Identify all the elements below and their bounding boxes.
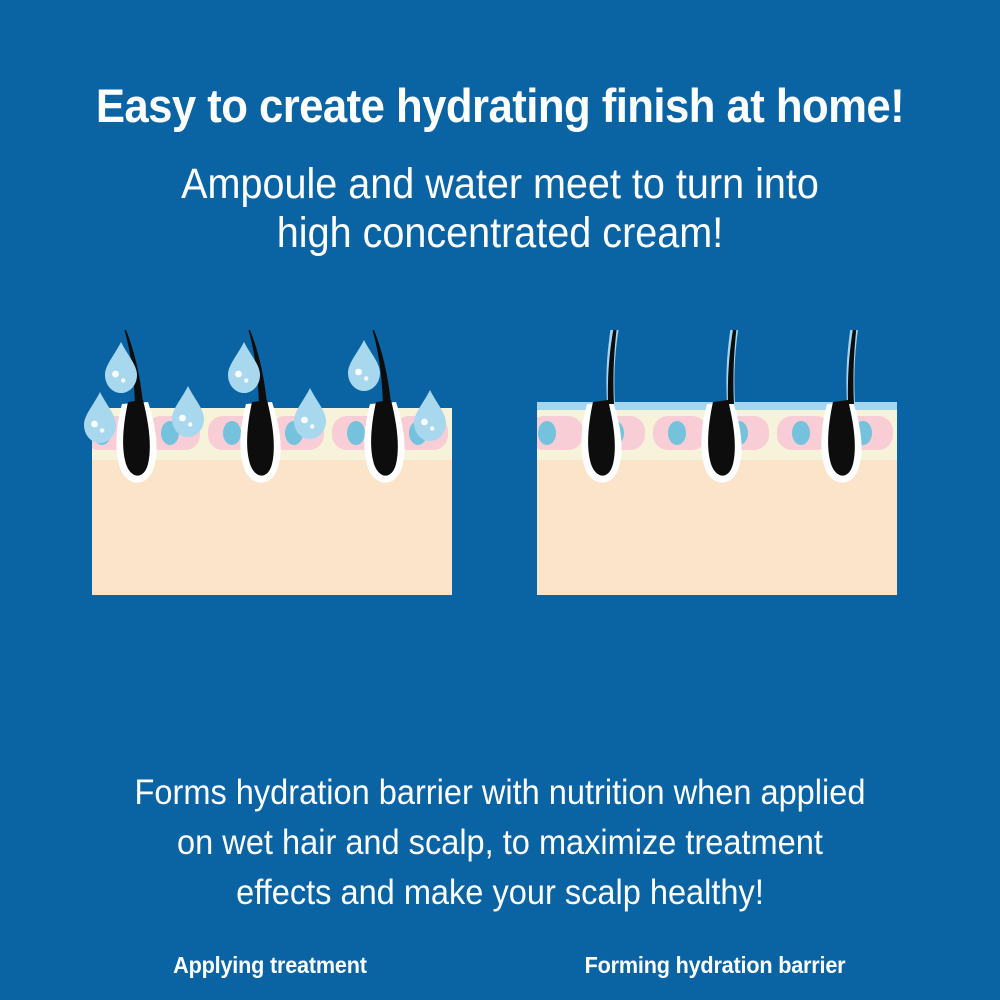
- water-droplet-icon: [172, 386, 204, 437]
- illustration-row: Applying treatment Forming hydration bar…: [0, 330, 1000, 660]
- description-line-3: effects and make your scalp healthy!: [35, 868, 965, 918]
- subtitle-line-2: high concentrated cream!: [40, 209, 960, 258]
- caption-forming-hydration-barrier: Forming hydration barrier: [461, 952, 969, 979]
- scalp-diagram-applying-treatment: [78, 330, 478, 610]
- description-text: Forms hydration barrier with nutrition w…: [35, 768, 965, 918]
- page-title: Easy to create hydrating finish at home!: [35, 78, 965, 133]
- page-subtitle: Ampoule and water meet to turn into high…: [40, 160, 960, 258]
- description-line-2: on wet hair and scalp, to maximize treat…: [35, 818, 965, 868]
- scalp-diagram-hydration-barrier: [523, 330, 923, 610]
- description-line-1: Forms hydration barrier with nutrition w…: [35, 768, 965, 818]
- caption-applying-treatment: Applying treatment: [16, 952, 524, 979]
- water-droplet-icon: [414, 390, 446, 441]
- water-droplet-icon: [348, 340, 380, 391]
- infographic-page: Easy to create hydrating finish at home!…: [0, 0, 1000, 1000]
- figure-applying-treatment: [78, 330, 478, 615]
- subtitle-line-1: Ampoule and water meet to turn into: [40, 160, 960, 209]
- figure-forming-hydration-barrier: [523, 330, 923, 615]
- water-droplet-icon: [84, 392, 116, 443]
- water-droplet-icon: [294, 388, 326, 439]
